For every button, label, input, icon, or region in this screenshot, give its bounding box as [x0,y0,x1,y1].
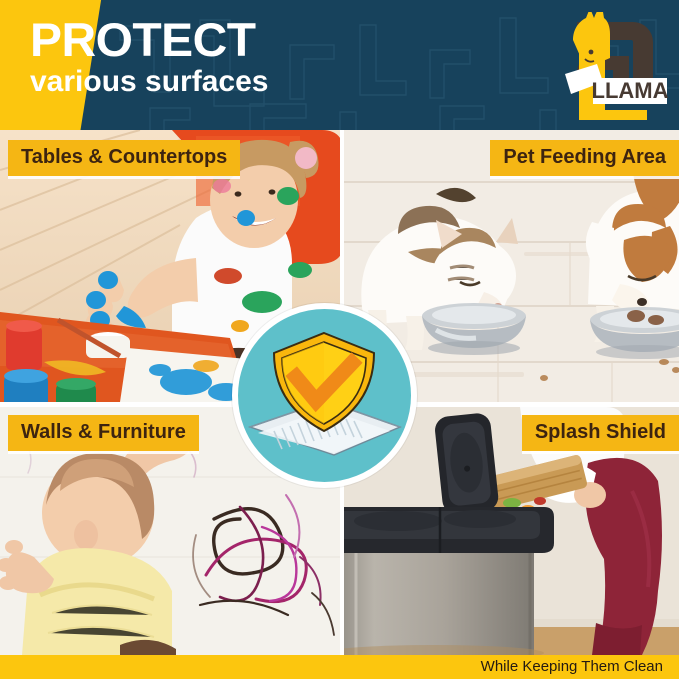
footer-banner: While Keeping Them Clean [0,655,679,679]
page-subtitle: various surfaces [30,67,268,97]
header-banner: PROTECT various surfaces LL [0,0,679,130]
footer-tagline: While Keeping Them Clean [481,658,663,675]
panel-label-tables-countertops: Tables & Countertops [8,140,240,176]
shield-badge [232,303,417,488]
panel-label-pet-feeding-area: Pet Feeding Area [490,140,679,176]
panel-label-walls-furniture: Walls & Furniture [8,415,199,451]
brand-wordmark: LLAMA [592,78,669,103]
panel-label-splash-shield: Splash Shield [522,415,679,451]
product-infographic: PROTECT various surfaces LL [0,0,679,679]
shield-check-over-absorbent-pad-icon [238,309,411,482]
page-title: PROTECT [30,16,255,63]
llama-logo-icon: LLAMA [531,12,671,120]
